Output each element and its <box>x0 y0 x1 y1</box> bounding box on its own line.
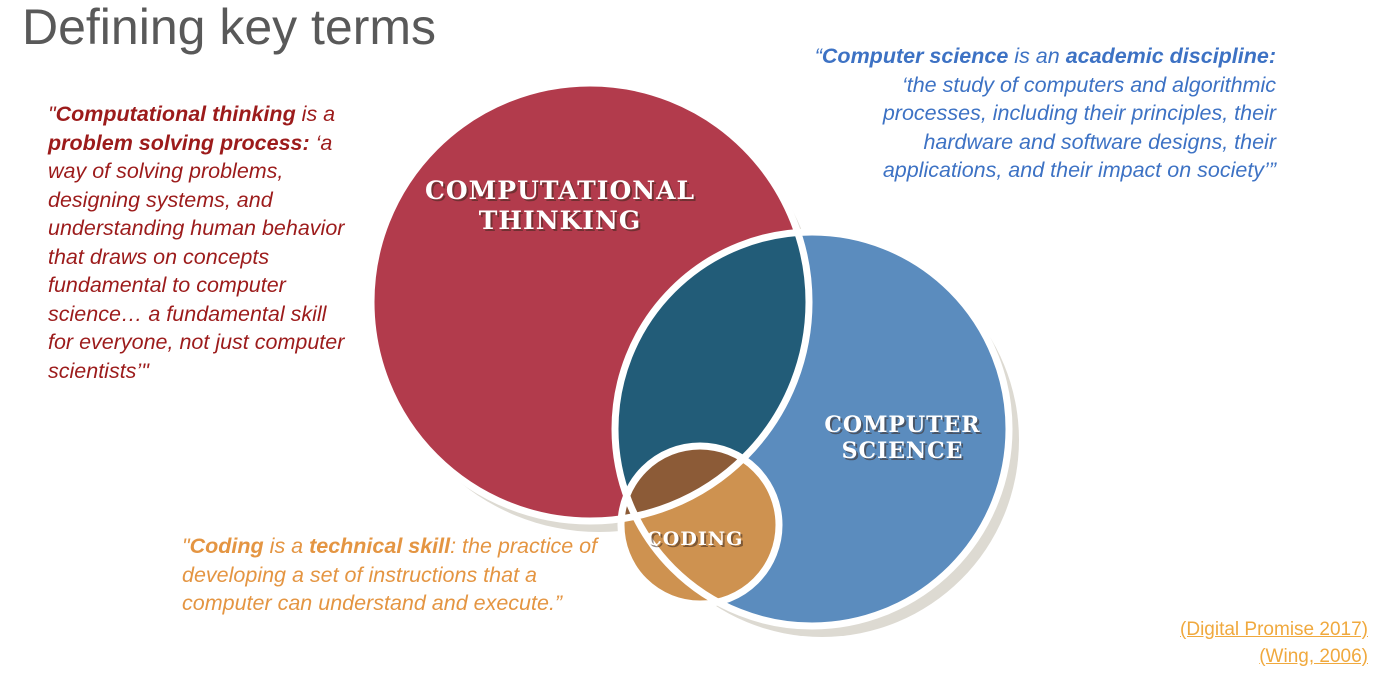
slide-canvas: Defining key terms <box>0 0 1384 676</box>
quote-coding-phrase: technical skill <box>309 534 450 558</box>
quote-ct-open-quote: " <box>48 102 56 126</box>
quote-cs-mid: is an <box>1008 44 1065 68</box>
quote-coding: "Coding is a technical skill: the practi… <box>182 532 612 618</box>
quote-ct-term: Computational thinking <box>56 102 296 126</box>
quote-computer-science: “Computer science is an academic discipl… <box>808 42 1276 185</box>
citation-list: (Digital Promise 2017) (Wing, 2006) <box>1180 616 1368 670</box>
quote-cs-phrase: academic discipline: <box>1066 44 1276 68</box>
citation-link-wing[interactable]: (Wing, 2006) <box>1180 643 1368 670</box>
quote-coding-mid: is a <box>264 534 309 558</box>
quote-ct-body: ‘a way of solving problems, designing sy… <box>48 131 344 383</box>
quote-computational-thinking: "Computational thinking is a problem sol… <box>48 100 348 385</box>
citation-link-digital-promise[interactable]: (Digital Promise 2017) <box>1180 616 1368 643</box>
quote-coding-term: Coding <box>190 534 264 558</box>
quote-coding-open-quote: " <box>182 534 190 558</box>
quote-ct-phrase: problem solving process: <box>48 131 310 155</box>
quote-cs-body: ‘the study of computers and algorithmic … <box>883 73 1276 183</box>
quote-cs-open-quote: “ <box>815 44 822 68</box>
quote-ct-mid: is a <box>296 102 335 126</box>
quote-cs-term: Computer science <box>822 44 1008 68</box>
